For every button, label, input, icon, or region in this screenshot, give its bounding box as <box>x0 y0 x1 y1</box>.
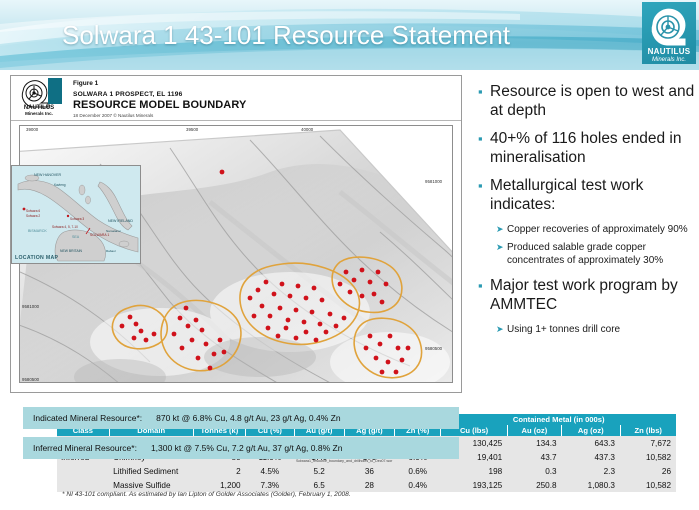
cell-au-oz: 43.7 <box>507 450 561 464</box>
bullet-item-0: ▪ Resource is open to west and at depth <box>478 82 696 120</box>
callout-indicated-value: 870 kt @ 6.8% Cu, 4.8 g/t Au, 23 g/t Ag,… <box>156 413 340 423</box>
cell-zn-lbs: 26 <box>620 464 676 478</box>
arrow-bullet-icon: ➤ <box>496 223 507 236</box>
cell-ag-oz: 2.3 <box>562 464 620 478</box>
bullet-text-1: 40+% of 116 holes ended in mineralisatio… <box>490 129 696 167</box>
cell-au-gt: 6.5 <box>294 478 344 492</box>
nautilus-logo: NAUTILUS Minerals Inc. <box>642 2 696 64</box>
nautilus-shell-icon <box>642 2 696 52</box>
svg-text:SOLWARA 1: SOLWARA 1 <box>90 233 109 237</box>
bullet-text-0: Resource is open to west and at depth <box>490 82 696 120</box>
col-zn-lbs: Zn (lbs) <box>620 425 676 436</box>
callout-inferred-resource: Inferred Mineral Resource*: 1,300 kt @ 7… <box>23 437 459 459</box>
svg-text:Solwara 2: Solwara 2 <box>26 214 40 218</box>
svg-text:NEW BRITAIN: NEW BRITAIN <box>60 249 83 253</box>
bullet-text-5: Major test work program by AMMTEC <box>490 276 696 314</box>
resource-map[interactable]: 39000 39500 40000 9581000 9580500 958100… <box>11 121 461 392</box>
cell-class <box>57 478 109 492</box>
figure-title: RESOURCE MODEL BOUNDARY <box>73 99 246 111</box>
map-coord-right-1: 9580500 <box>425 346 442 351</box>
svg-text:Solwara 6: Solwara 6 <box>26 209 40 213</box>
cell-cu-lbs: 198 <box>441 464 507 478</box>
cell-zn-lbs: 10,582 <box>620 478 676 492</box>
figure-panel: NAUTILUS Minerals Inc. Figure 1 SOLWARA … <box>10 75 462 393</box>
table-row: Massive Sulfide 1,200 7.3% 6.5 28 0.4% 1… <box>57 478 676 492</box>
svg-text:Kavieng: Kavieng <box>54 183 66 187</box>
bullet-text-6: Using 1+ tonnes drill core <box>507 323 620 336</box>
cell-tonnes: 2 <box>193 464 245 478</box>
bullet-list: ▪ Resource is open to west and at depth … <box>478 82 696 341</box>
square-bullet-icon: ▪ <box>478 276 490 314</box>
location-map-label: LOCATION MAP <box>15 255 58 261</box>
table-row: Lithified Sediment 2 4.5% 5.2 36 0.6% 19… <box>57 464 676 478</box>
callout-indicated-resource: Indicated Mineral Resource*: 870 kt @ 6.… <box>23 407 459 429</box>
map-coord-left-1: 9580500 <box>22 377 39 382</box>
figure-label: Figure 1 <box>73 80 98 87</box>
square-bullet-icon: ▪ <box>478 176 490 214</box>
cell-au-oz: 0.3 <box>507 464 561 478</box>
square-bullet-icon: ▪ <box>478 82 490 120</box>
cell-au-gt: 5.2 <box>294 464 344 478</box>
bullet-item-4: ➤ Produced salable grade copper concentr… <box>496 241 696 267</box>
bullet-item-6: ➤ Using 1+ tonnes drill core <box>496 323 696 336</box>
svg-text:NEW HANOVER: NEW HANOVER <box>34 173 62 177</box>
svg-text:NEW IRELAND: NEW IRELAND <box>108 219 133 223</box>
figure-logo-subtitle: Minerals Inc. <box>15 111 63 117</box>
table-footnote: * NI 43-101 compliant. As estimated by I… <box>62 491 351 498</box>
bullet-item-2: ▪ Metallurgical test work indicates: <box>478 176 696 214</box>
cell-cu-pct: 4.5% <box>246 464 294 478</box>
logo-name: NAUTILUS <box>642 48 696 56</box>
map-coord-right-0: 9581000 <box>425 179 442 184</box>
cell-ag-oz: 437.3 <box>562 450 620 464</box>
page-title: Solwara 1 43-101 Resource Statement <box>62 20 510 51</box>
group-header-contained-metal: Contained Metal (in 000s) <box>441 414 676 425</box>
cell-zn-pct: 0.4% <box>395 478 441 492</box>
cell-domain: Massive Sulfide <box>109 478 193 492</box>
cell-ag-gt: 36 <box>344 464 394 478</box>
location-map-inset: NEW HANOVER Kavieng NEW IRELAND Namatana… <box>11 165 141 264</box>
svg-text:Rabaul: Rabaul <box>106 249 116 253</box>
cell-zn-lbs: 7,672 <box>620 436 676 450</box>
svg-text:BISMARCK: BISMARCK <box>28 229 47 233</box>
bullet-text-3: Copper recoveries of approximately 90% <box>507 223 688 236</box>
header-banner: Solwara 1 43-101 Resource Statement NAUT… <box>0 0 699 70</box>
png-locality-map: NEW HANOVER Kavieng NEW IRELAND Namatana… <box>12 166 140 263</box>
figure-prospect-line: SOLWARA 1 PROSPECT, EL 1196 <box>73 91 182 98</box>
col-ag-oz: Ag (oz) <box>562 425 620 436</box>
arrow-bullet-icon: ➤ <box>496 323 507 336</box>
map-coord-left-0: 9581000 <box>22 304 39 309</box>
bullet-item-5: ▪ Major test work program by AMMTEC <box>478 276 696 314</box>
bullet-text-4: Produced salable grade copper concentrat… <box>507 241 696 267</box>
cell-zn-lbs: 10,582 <box>620 450 676 464</box>
cell-ag-oz: 1,080.3 <box>562 478 620 492</box>
callout-inferred-label: Inferred Mineral Resource*: <box>33 443 137 453</box>
cell-zn-pct: 0.6% <box>395 464 441 478</box>
logo-subtitle: Minerals Inc. <box>642 57 696 64</box>
bullet-item-3: ➤ Copper recoveries of approximately 90% <box>496 223 696 236</box>
map-coord-top-0: 39000 <box>26 127 38 132</box>
cell-domain: Lithified Sediment <box>109 464 193 478</box>
square-bullet-icon: ▪ <box>478 129 490 167</box>
svg-text:SEA: SEA <box>72 235 80 239</box>
figure-header: NAUTILUS Minerals Inc. Figure 1 SOLWARA … <box>11 76 461 121</box>
bullet-text-2: Metallurgical test work indicates: <box>490 176 696 214</box>
cell-class <box>57 464 109 478</box>
figure-credit: 18 December 2007 © Nautilus Minerals <box>73 113 153 118</box>
map-source-note: Solwara1_resource_boundary_and_drillhole… <box>296 459 392 463</box>
cell-ag-gt: 28 <box>344 478 394 492</box>
map-coord-top-2: 40000 <box>301 127 313 132</box>
cell-cu-lbs: 193,125 <box>441 478 507 492</box>
cell-tonnes: 1,200 <box>193 478 245 492</box>
cell-cu-pct: 7.3% <box>246 478 294 492</box>
callout-inferred-value: 1,300 kt @ 7.5% Cu, 7.2 g/t Au, 37 g/t A… <box>151 443 343 453</box>
cell-au-oz: 250.8 <box>507 478 561 492</box>
callout-indicated-label: Indicated Mineral Resource*: <box>33 413 142 423</box>
arrow-bullet-icon: ➤ <box>496 241 507 267</box>
cell-au-oz: 134.3 <box>507 436 561 450</box>
svg-text:Solwara 3: Solwara 3 <box>70 217 84 221</box>
figure-nautilus-logo: NAUTILUS Minerals Inc. <box>15 78 63 118</box>
cell-ag-oz: 643.3 <box>562 436 620 450</box>
map-coord-top-1: 39500 <box>186 127 198 132</box>
bullet-item-1: ▪ 40+% of 116 holes ended in mineralisat… <box>478 129 696 167</box>
svg-text:Solwara 4, 5, 7-10: Solwara 4, 5, 7-10 <box>52 225 78 229</box>
col-au-oz: Au (oz) <box>507 425 561 436</box>
